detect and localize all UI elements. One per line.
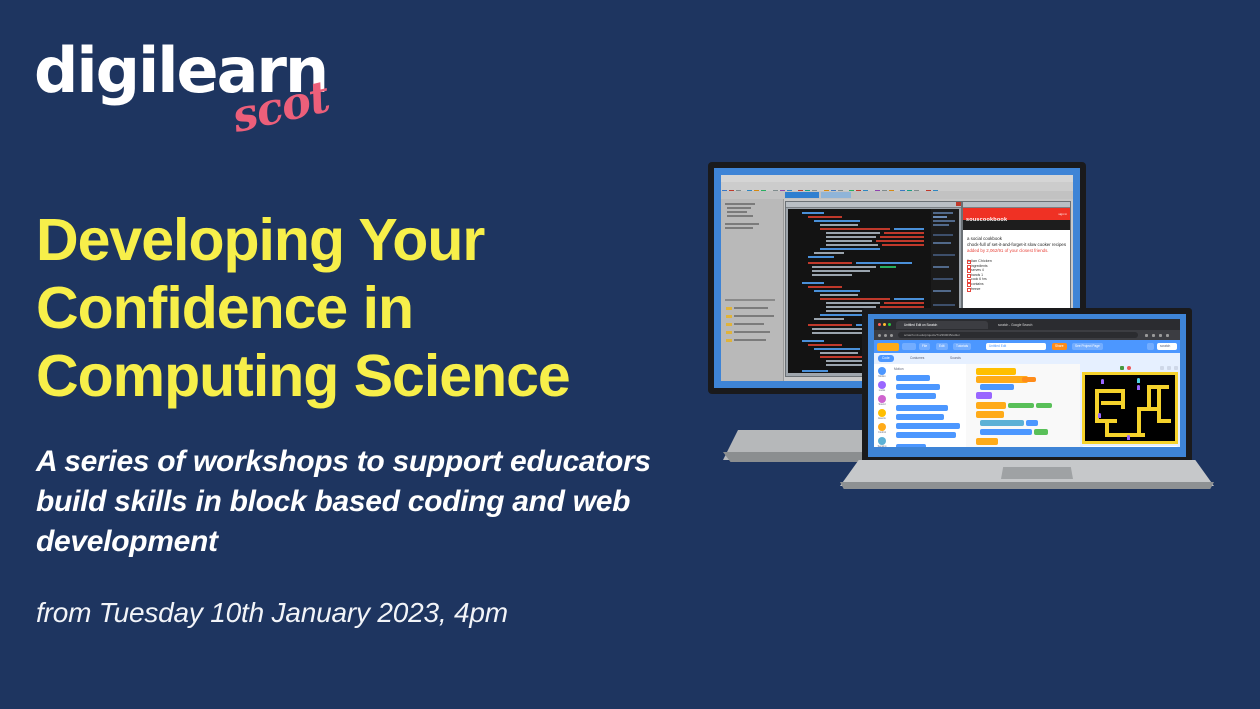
- category-events-icon[interactable]: [878, 409, 886, 417]
- language-menu[interactable]: [902, 343, 916, 350]
- category-control-icon[interactable]: [878, 423, 886, 431]
- scratch-logo-icon[interactable]: [877, 343, 899, 351]
- script-canvas[interactable]: [966, 364, 1080, 447]
- browser-tab-search[interactable]: scratch - Google Search: [990, 321, 1074, 329]
- palette-block[interactable]: [896, 384, 940, 390]
- palette-block[interactable]: [896, 375, 930, 381]
- extensions-icon[interactable]: [1152, 334, 1155, 337]
- tab-sounds[interactable]: Sounds: [946, 355, 965, 362]
- promo-slide: digilearn scot Developing Your Confidenc…: [0, 0, 1260, 709]
- small-stage-icon[interactable]: [1160, 366, 1164, 370]
- script-block-control[interactable]: [976, 376, 1028, 383]
- ide-tab[interactable]: [821, 192, 851, 198]
- palette-block[interactable]: [896, 432, 956, 438]
- laptop-base-front-edge: [840, 482, 1214, 489]
- script-block-motion[interactable]: [1026, 420, 1038, 426]
- script-block-variable[interactable]: [1022, 377, 1036, 382]
- file-menu[interactable]: File: [919, 343, 930, 350]
- ide-file-explorer[interactable]: [721, 199, 784, 381]
- scratch-stage[interactable]: [1082, 372, 1178, 444]
- sprite-ghost-cyan[interactable]: [1137, 378, 1140, 383]
- recipe-list-item: freeze: [967, 287, 1066, 292]
- digilearn-logo: digilearn scot: [34, 40, 364, 135]
- sprite-ghost-purple[interactable]: [1098, 413, 1101, 418]
- script-block-control[interactable]: [976, 411, 1004, 418]
- category-motion-label: Motion: [875, 375, 889, 378]
- devices-illustration: souscookbook sign in recipes a social co…: [690, 150, 1250, 550]
- script-block-sensing[interactable]: [980, 420, 1024, 426]
- new-tab-button[interactable]: [1076, 321, 1086, 329]
- category-control-label: Control: [875, 431, 889, 434]
- laptop-screen: Untitled Edit on Scratch scratch - Googl…: [874, 319, 1180, 447]
- palette-block[interactable]: [896, 444, 926, 447]
- script-block-looks[interactable]: [976, 392, 992, 399]
- palette-block[interactable]: [896, 414, 944, 420]
- url-input[interactable]: scratch.mit.edu/projects/712390035/edito…: [898, 332, 1138, 338]
- page-title: Developing Your Confidence in Computing …: [36, 206, 676, 410]
- category-sensing-icon[interactable]: [878, 437, 886, 445]
- account-menu[interactable]: scratch: [1157, 343, 1177, 350]
- site-tagline-3: added by 2,062/91 of your closest friend…: [967, 248, 1066, 254]
- stage-column: Sprite1 Sprite2 Sprite3 Stage: [1080, 364, 1180, 447]
- block-category-rail[interactable]: Motion Looks Sound Events Control Sensin…: [874, 364, 891, 447]
- stop-button-icon[interactable]: [1127, 366, 1131, 370]
- window-close-icon[interactable]: [878, 323, 881, 326]
- script-block-operator[interactable]: [1034, 429, 1048, 435]
- project-name-input[interactable]: Untitled Edit: [986, 343, 1046, 350]
- script-block-operator[interactable]: [1036, 403, 1052, 408]
- site-signin-link[interactable]: sign in: [1058, 208, 1070, 220]
- stage-controls[interactable]: [1080, 364, 1180, 372]
- window-minimize-icon[interactable]: [883, 323, 886, 326]
- category-motion-icon[interactable]: [878, 367, 886, 375]
- green-flag-icon[interactable]: [1120, 366, 1124, 370]
- script-block-event[interactable]: [976, 368, 1016, 375]
- tab-costumes[interactable]: Costumes: [906, 355, 928, 362]
- category-sensing-label: Sensing: [875, 445, 889, 447]
- laptop: Untitled Edit on Scratch scratch - Googl…: [862, 308, 1222, 493]
- fullscreen-icon[interactable]: [1174, 366, 1178, 370]
- category-events-label: Events: [875, 417, 889, 420]
- folder-icon[interactable]: [1147, 343, 1154, 350]
- dateline: from Tuesday 10th January 2023, 4pm: [36, 596, 696, 630]
- subtitle: A series of workshops to support educato…: [36, 442, 696, 562]
- large-stage-icon[interactable]: [1167, 366, 1171, 370]
- scratch-editor: Motion Looks Sound Events Control Sensin…: [874, 364, 1180, 447]
- palette-block[interactable]: [896, 423, 960, 429]
- menu-icon[interactable]: [1166, 334, 1169, 337]
- site-banner: souscookbook sign in: [963, 208, 1070, 220]
- scratch-tabbar[interactable]: Code Costumes Sounds: [874, 353, 1180, 364]
- palette-block[interactable]: [896, 405, 948, 411]
- script-block-motion[interactable]: [980, 384, 1014, 390]
- sprite-info-panel[interactable]: [1082, 446, 1178, 447]
- recipe-block: Italian Chicken ingredients serves 4 han…: [967, 259, 1066, 291]
- category-looks-icon[interactable]: [878, 381, 886, 389]
- script-block-operator[interactable]: [1008, 403, 1034, 408]
- tab-code[interactable]: Code: [878, 355, 894, 362]
- profile-icon[interactable]: [1159, 334, 1162, 337]
- forward-icon[interactable]: [884, 334, 887, 337]
- browser-tab-scratch[interactable]: Untitled Edit on Scratch: [896, 321, 988, 329]
- script-block-control[interactable]: [976, 438, 998, 445]
- category-sound-label: Sound: [875, 403, 889, 406]
- laptop-trackpad: [1001, 467, 1073, 479]
- browser-addressbar[interactable]: scratch.mit.edu/projects/712390035/edito…: [874, 330, 1180, 340]
- sprite-ghost-purple[interactable]: [1101, 379, 1104, 384]
- palette-section-label: Motion: [890, 364, 966, 373]
- ide-tab-active[interactable]: [785, 192, 819, 198]
- window-zoom-icon[interactable]: [888, 323, 891, 326]
- script-block-control[interactable]: [976, 402, 1006, 409]
- category-looks-label: Looks: [875, 389, 889, 392]
- edit-menu[interactable]: Edit: [936, 343, 948, 350]
- sprite-ghost-purple[interactable]: [1137, 385, 1140, 390]
- scratch-menubar[interactable]: File Edit Tutorials Untitled Edit Share …: [874, 340, 1180, 353]
- browser-tabbar[interactable]: Untitled Edit on Scratch scratch - Googl…: [874, 319, 1180, 330]
- sprite-ghost-purple[interactable]: [1127, 435, 1130, 440]
- code-window-titlebar: [786, 202, 961, 208]
- ide-tabstrip[interactable]: [721, 191, 1073, 199]
- palette-block[interactable]: [896, 393, 936, 399]
- block-palette[interactable]: Motion Google Chrome: [890, 364, 966, 447]
- bookmark-icon[interactable]: [1145, 334, 1148, 337]
- share-button[interactable]: Share: [1052, 343, 1067, 350]
- see-project-page-button[interactable]: See Project Page: [1072, 343, 1103, 350]
- tutorials-menu[interactable]: Tutorials: [953, 343, 971, 350]
- category-sound-icon[interactable]: [878, 395, 886, 403]
- back-icon[interactable]: [878, 334, 881, 337]
- reload-icon[interactable]: [890, 334, 893, 337]
- script-block-motion[interactable]: [980, 429, 1032, 435]
